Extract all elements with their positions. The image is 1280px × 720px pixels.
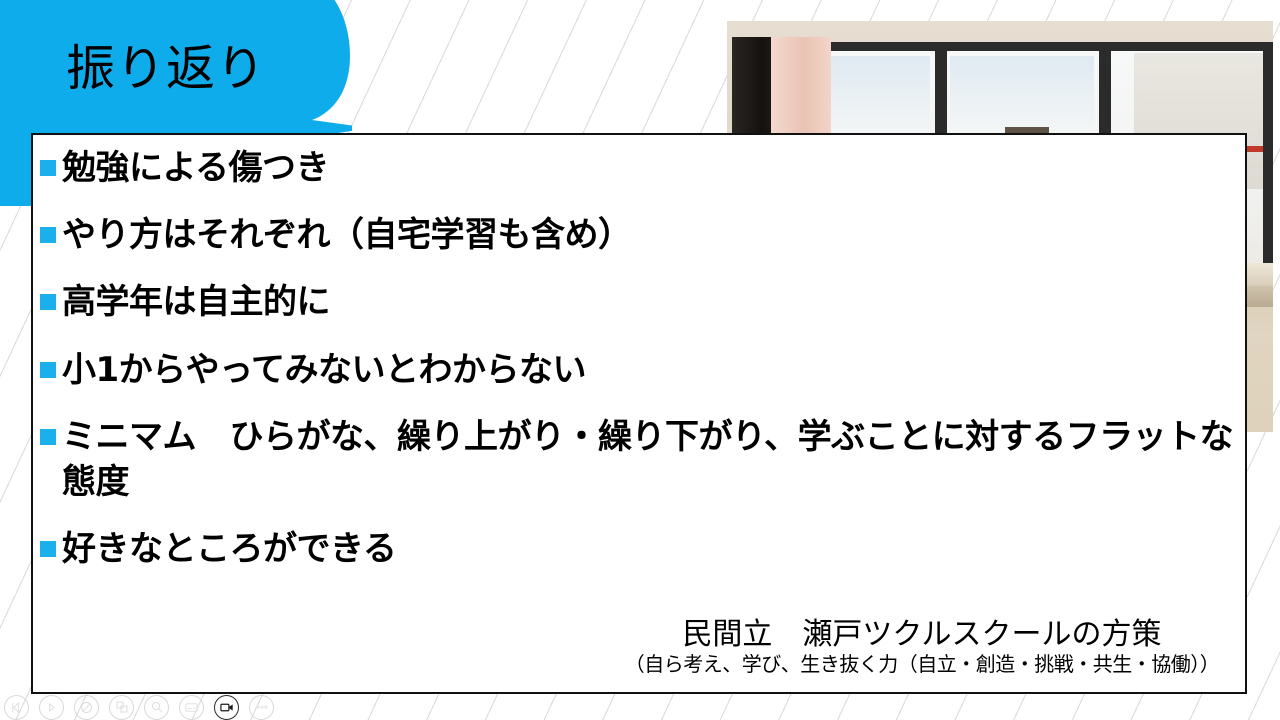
bullet-square-icon — [40, 294, 56, 310]
subtitles-icon[interactable] — [179, 695, 204, 720]
caption-sub-line: （自ら考え、学び、生き抜く力（自立・創造・挑戦・共生・協働）） — [612, 653, 1232, 675]
list-item: 小1からやってみないとわからない — [40, 348, 1240, 393]
list-item-label: 勉強による傷つき — [62, 146, 329, 191]
list-item: 好きなところができる — [40, 527, 1240, 572]
list-item-label: 高学年は自主的に — [62, 280, 330, 325]
slide-caption: 民間立 瀬戸ツクルスクールの方策 （自ら考え、学び、生き抜く力（自立・創造・挑戦… — [612, 618, 1232, 675]
bullet-list: 勉強による傷つき やり方はそれぞれ（自宅学習も含め） 高学年は自主的に 小1から… — [40, 146, 1240, 595]
list-item-label: やり方はそれぞれ（自宅学習も含め） — [62, 213, 632, 258]
bullet-square-icon — [40, 541, 56, 557]
slide-overview-icon[interactable] — [109, 695, 134, 720]
zoom-icon[interactable] — [144, 695, 169, 720]
previous-slide-icon[interactable] — [4, 695, 29, 720]
list-item-label: 小1からやってみないとわからない — [62, 348, 586, 393]
caption-main-line: 民間立 瀬戸ツクルスクールの方策 — [612, 618, 1232, 652]
bullet-square-icon — [40, 429, 56, 445]
list-item: 勉強による傷つき — [40, 146, 1240, 191]
list-item: ミニマム ひらがな、繰り上がり・繰り下がり、学ぶことに対するフラットな態度 — [40, 415, 1240, 505]
pen-off-icon[interactable] — [74, 695, 99, 720]
list-item-label: 好きなところができる — [62, 527, 396, 572]
list-item: 高学年は自主的に — [40, 280, 1240, 325]
list-item: やり方はそれぞれ（自宅学習も含め） — [40, 213, 1240, 258]
bullet-square-icon — [40, 362, 56, 378]
presentation-slide: 振り返り — [0, 0, 1280, 720]
more-options-icon[interactable] — [249, 695, 274, 720]
page-title: 振り返り — [66, 44, 266, 93]
record-video-icon[interactable] — [214, 695, 239, 720]
presentation-toolbar[interactable] — [0, 694, 1280, 720]
list-item-label: ミニマム ひらがな、繰り上がり・繰り下がり、学ぶことに対するフラットな態度 — [62, 415, 1240, 505]
next-slide-icon[interactable] — [39, 695, 64, 720]
bullet-square-icon — [40, 160, 56, 176]
bullet-square-icon — [40, 227, 56, 243]
